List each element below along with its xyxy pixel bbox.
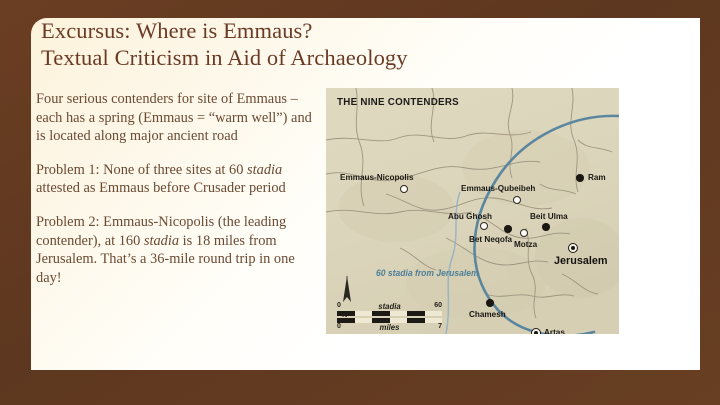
marker-emmaus-qubeibeh bbox=[513, 196, 521, 204]
paragraph-problem-1: Problem 1: None of three sites at 60 sta… bbox=[36, 161, 321, 198]
label-emmaus-qubeibeh: Emmaus-Qubeibeh bbox=[461, 183, 535, 193]
map-scalebar: 0 stadia 60 0 miles 7 bbox=[337, 302, 442, 332]
label-emmaus-nicopolis: Emmaus-Nicopolis bbox=[340, 172, 414, 182]
scalebar-stadia-min: 0 bbox=[337, 302, 341, 309]
problem-1-text-a: Problem 1: None of three sites at 60 bbox=[36, 162, 247, 178]
scalebar-stadia-numbers: 0 stadia 60 bbox=[337, 302, 442, 311]
scalebar-miles-min: 0 bbox=[337, 323, 341, 330]
marker-beit-ulma bbox=[542, 223, 550, 231]
slide: Excursus: Where is Emmaus? Textual Criti… bbox=[0, 0, 720, 405]
paragraph-contenders: Four serious contenders for site of Emma… bbox=[36, 90, 321, 146]
label-abu-ghosh: Abu Ghosh bbox=[448, 211, 492, 221]
title-line-2: Textual Criticism in Aid of Archaeology bbox=[41, 44, 621, 71]
map-title: THE NINE CONTENDERS bbox=[337, 96, 459, 108]
label-chamesh: Chamesh bbox=[469, 309, 506, 319]
paragraph-contenders-text: Four serious contenders for site of Emma… bbox=[36, 91, 312, 144]
scalebar-miles-max: 7 bbox=[438, 323, 442, 330]
arc-annotation-label: 60 stadia from Jerusalem bbox=[376, 268, 479, 278]
paragraph-problem-2: Problem 2: Emmaus-Nicopolis (the leading… bbox=[36, 213, 321, 287]
problem-1-stadia: stadia bbox=[247, 162, 282, 178]
scalebar-stadia-max: 60 bbox=[434, 302, 442, 309]
label-artas: Artas bbox=[544, 327, 565, 334]
label-beit-ulma: Beit Ulma bbox=[530, 211, 568, 221]
marker-jerusalem bbox=[568, 243, 578, 253]
page-title: Excursus: Where is Emmaus? Textual Criti… bbox=[41, 17, 621, 71]
scalebar-stadia-label: stadia bbox=[378, 302, 401, 311]
label-motza: Motza bbox=[514, 239, 537, 249]
label-jerusalem: Jerusalem bbox=[554, 255, 608, 267]
map-figure: THE NINE CONTENDERS Emmaus-Nicopolis Emm… bbox=[326, 88, 619, 334]
problem-2-stadia: stadia bbox=[144, 233, 179, 249]
marker-abu-ghosh bbox=[480, 222, 488, 230]
marker-bet-neqofa bbox=[504, 225, 512, 233]
marker-ram bbox=[576, 174, 584, 182]
marker-motza bbox=[520, 229, 528, 237]
body-text-column: Four serious contenders for site of Emma… bbox=[36, 90, 321, 287]
title-line-1: Excursus: Where is Emmaus? bbox=[41, 17, 621, 44]
marker-chamesh bbox=[486, 299, 494, 307]
scalebar-graphic-stadia bbox=[337, 311, 442, 316]
label-ram: Ram bbox=[588, 172, 606, 182]
label-bet-neqofa: Bet Neqofa bbox=[469, 234, 512, 244]
scalebar-miles-numbers: 0 miles 7 bbox=[337, 323, 442, 332]
scalebar-miles-label: miles bbox=[380, 323, 400, 332]
problem-1-text-b: attested as Emmaus before Crusader perio… bbox=[36, 180, 286, 196]
marker-emmaus-nicopolis bbox=[400, 185, 408, 193]
marker-artas bbox=[531, 328, 541, 334]
